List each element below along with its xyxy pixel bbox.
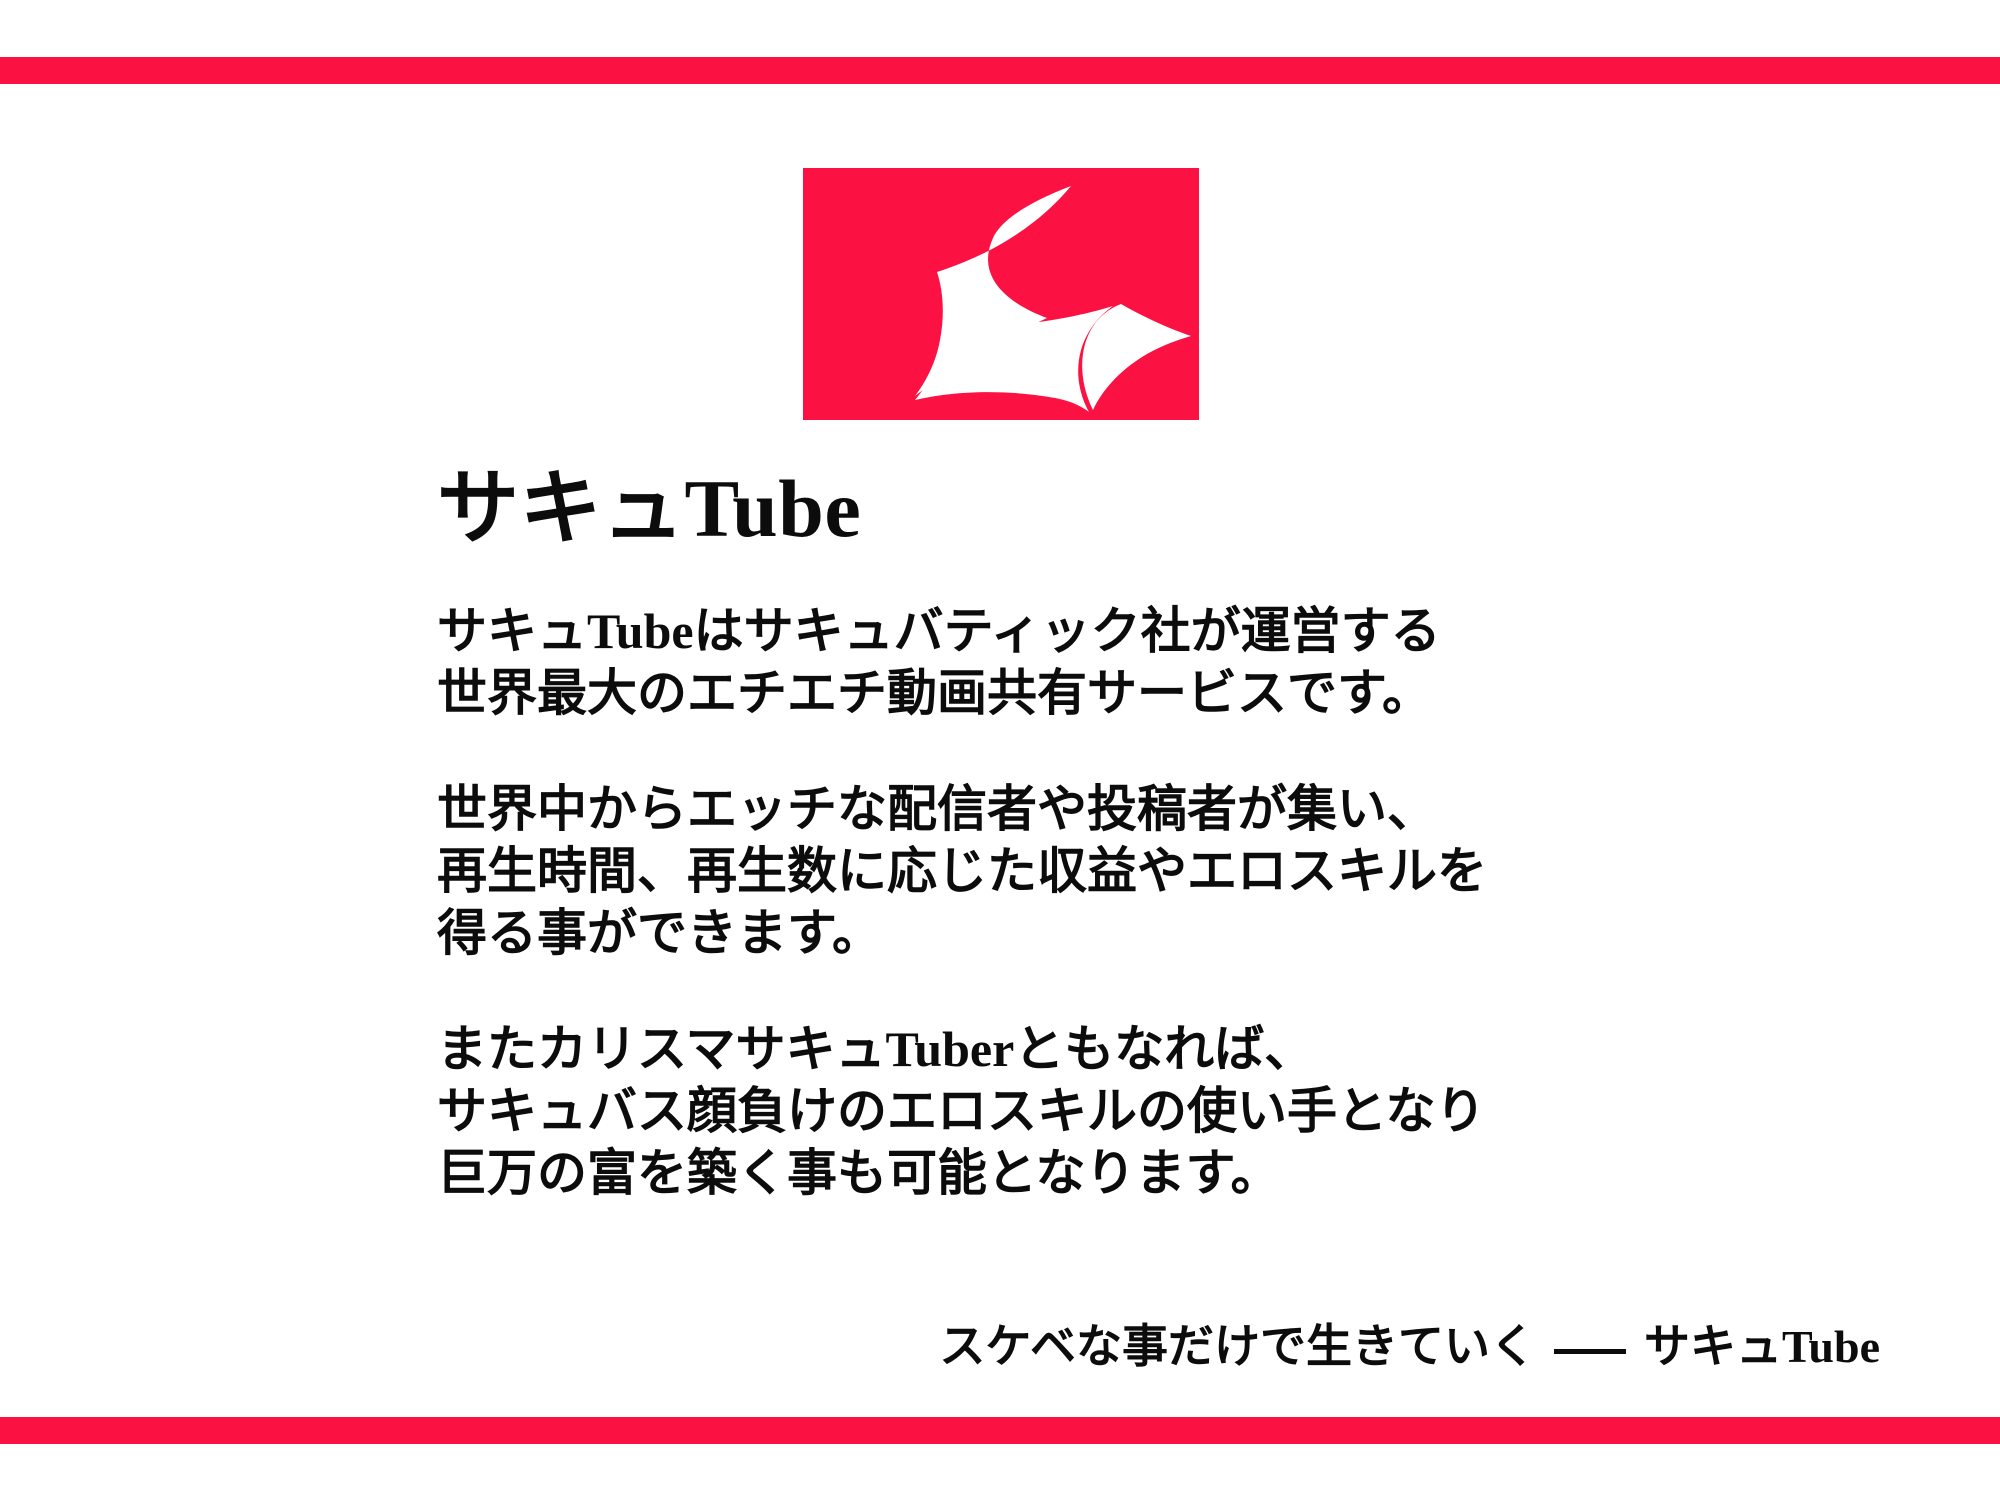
paragraph-1: サキュTubeはサキュバティック社が運営する 世界最大のエチエチ動画共有サービス… bbox=[437, 600, 1617, 724]
top-accent-rule bbox=[0, 57, 2000, 84]
paragraph-3: またカリスマサキュTuberともなれば、 サキュバス顔負けのエロスキルの使い手と… bbox=[437, 1018, 1617, 1204]
tagline-brand: サキュTube bbox=[1644, 1321, 1880, 1372]
tagline-separator-dash-icon bbox=[1554, 1349, 1626, 1354]
page-title: サキュTube bbox=[437, 466, 1617, 552]
paragraph-1-line-2: 世界最大のエチエチ動画共有サービスです。 bbox=[437, 662, 1617, 724]
text-column: サキュTube サキュTubeはサキュバティック社が運営する 世界最大のエチエチ… bbox=[437, 466, 1617, 1204]
paragraph-3-line-1: またカリスマサキュTuberともなれば、 bbox=[437, 1018, 1617, 1080]
sakyutube-wing-mark-icon bbox=[803, 168, 1199, 420]
sakyutube-logo bbox=[803, 168, 1199, 420]
paragraph-2-line-2: 再生時間、再生数に応じた収益やエロスキルを bbox=[437, 840, 1617, 902]
paragraph-2-line-1: 世界中からエッチな配信者や投稿者が集い、 bbox=[437, 778, 1617, 840]
paragraph-2: 世界中からエッチな配信者や投稿者が集い、 再生時間、再生数に応じた収益やエロスキ… bbox=[437, 778, 1617, 964]
paragraph-3-line-2: サキュバス顔負けのエロスキルの使い手となり bbox=[437, 1080, 1617, 1142]
tagline: スケベな事だけで生きていくサキュTube bbox=[0, 1315, 1880, 1379]
bottom-accent-rule bbox=[0, 1417, 2000, 1444]
paragraph-3-line-3: 巨万の富を築く事も可能となります。 bbox=[437, 1142, 1617, 1204]
paragraph-1-line-1: サキュTubeはサキュバティック社が運営する bbox=[437, 600, 1617, 662]
tagline-slogan: スケベな事だけで生きていく bbox=[939, 1321, 1536, 1372]
paragraph-2-line-3: 得る事ができます。 bbox=[437, 902, 1617, 964]
slide-page: サキュTube サキュTubeはサキュバティック社が運営する 世界最大のエチエチ… bbox=[0, 0, 2000, 1500]
